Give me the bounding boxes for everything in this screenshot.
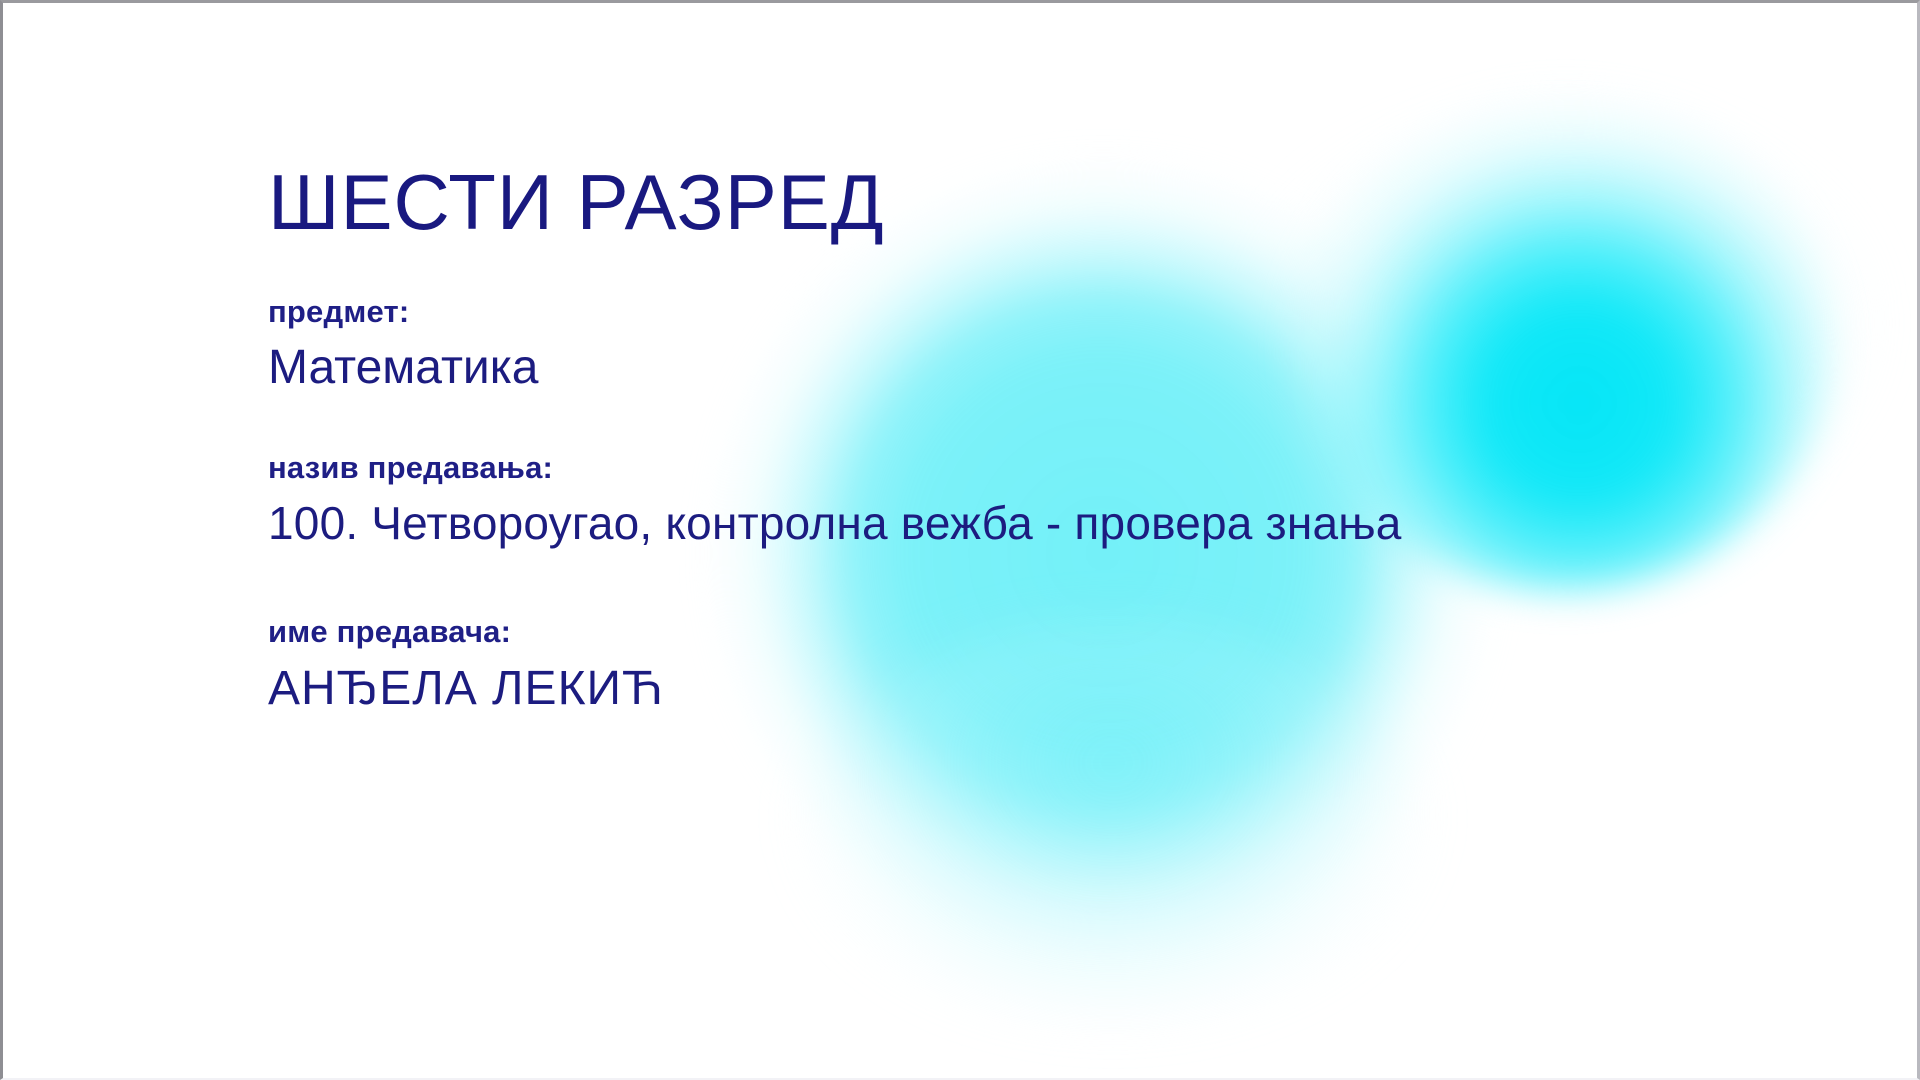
field-lecture-title: назив предавања: 100. Четвороугао, контр… [268,449,1402,549]
field-subject: предмет: Математика [268,293,1402,395]
field-teacher-name-value: АНЂЕЛА ЛЕКИЋ [268,661,1402,716]
slide-content: ШЕСТИ РАЗРЕД предмет: Математика назив п… [268,163,1402,716]
field-subject-value: Математика [268,340,1402,395]
page-title: ШЕСТИ РАЗРЕД [268,163,1402,241]
field-teacher-name: име предавача: АНЂЕЛА ЛЕКИЋ [268,613,1402,715]
field-lecture-title-label: назив предавања: [268,449,1402,486]
field-subject-label: предмет: [268,293,1402,330]
lecture-title-slide: ШЕСТИ РАЗРЕД предмет: Математика назив п… [0,0,1920,1080]
field-lecture-title-value: 100. Четвороугао, контролна вежба - пров… [268,497,1402,550]
field-teacher-name-label: име предавача: [268,613,1402,650]
